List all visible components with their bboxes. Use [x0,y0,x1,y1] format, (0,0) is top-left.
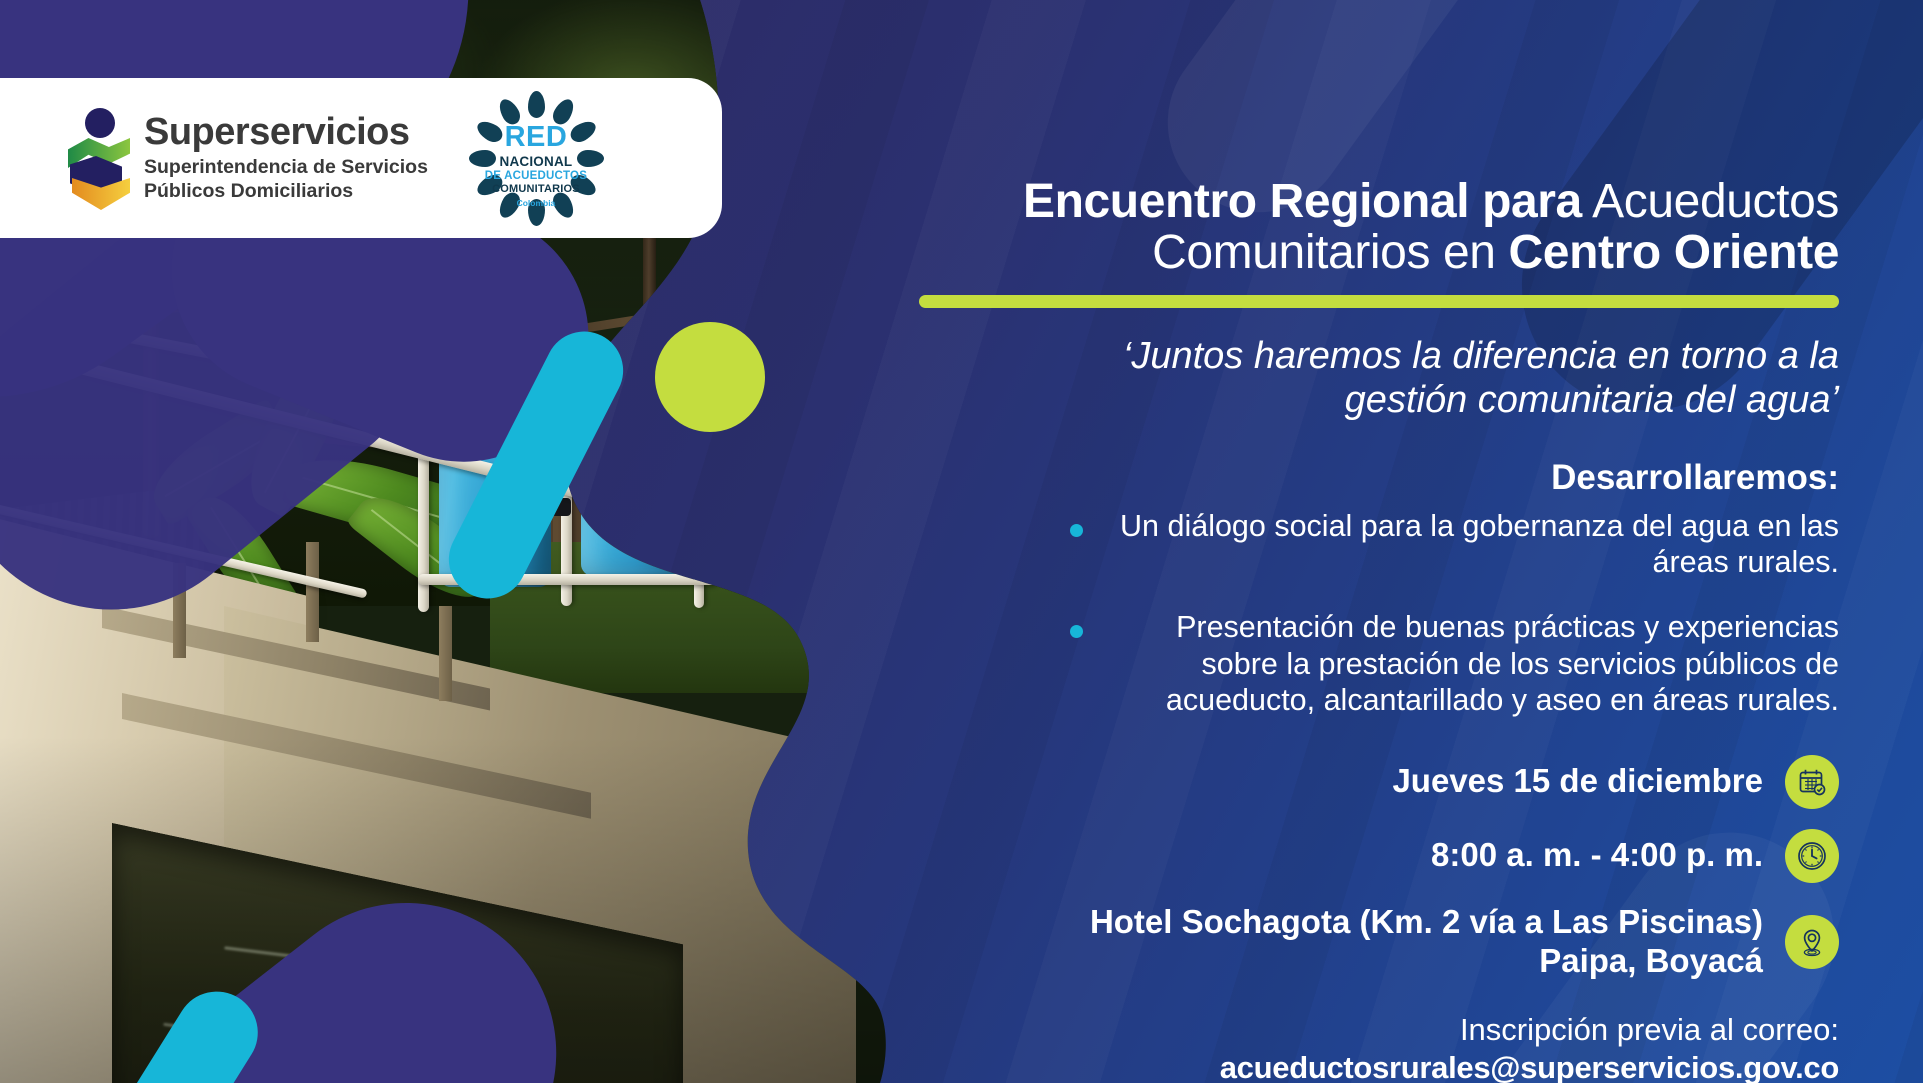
event-title-line2-bold: Centro Oriente [1509,226,1839,279]
bullet-dot-icon [1070,625,1083,638]
decorative-lime-circle [655,322,765,432]
superservicios-mark-icon [68,108,130,208]
event-location-row: Hotel Sochagota (Km. 2 vía a Las Piscina… [919,903,1839,981]
photo-water-tank [714,422,809,572]
superservicios-subtitle-line1: Superintendencia de Servicios [144,156,428,178]
event-time-row: 8:00 a. m. - 4:00 p. m. [919,829,1839,883]
event-time-text: 8:00 a. m. - 4:00 p. m. [1431,836,1763,875]
event-date-row: Jueves 15 de diciembre [919,755,1839,809]
program-heading: Desarrollaremos: [919,458,1839,498]
superservicios-subtitle-line2: Públicos Domiciliarios [144,180,353,202]
superservicios-wordmark: Superservicios Superintendencia de Servi… [144,113,428,204]
registration-info: Inscripción previa al correo: acueductos… [919,1011,1839,1083]
event-date-text: Jueves 15 de diciembre [1392,762,1763,801]
red-logo-line5: Colombia [474,199,598,208]
red-logo-line1: RED [474,123,598,152]
event-slogan-line1: ‘Juntos haremos la diferencia en torno a… [1123,335,1839,377]
program-bullet-item: Un diálogo social para la gobernanza del… [919,508,1839,581]
registration-label: Inscripción previa al correo: [1460,1012,1839,1047]
program-bullet-text: Presentación de buenas prácticas y exper… [1099,609,1839,719]
clock-icon [1785,829,1839,883]
superservicios-head-shape [85,108,115,138]
event-details: Jueves 15 de diciembre [919,755,1839,981]
location-pin-icon [1785,915,1839,969]
event-poster: Superservicios Superintendencia de Servi… [0,0,1923,1083]
logo-bar: Superservicios Superintendencia de Servi… [0,78,722,238]
photo-tree-trunk [643,217,656,467]
bullet-dot-icon [1070,524,1083,537]
superservicios-logo: Superservicios Superintendencia de Servi… [68,108,428,208]
registration-email[interactable]: acueductosrurales@superservicios.gov.co [919,1049,1839,1083]
photo-post [439,606,452,701]
superservicios-subtitle: Superintendencia de Servicios Públicos D… [144,156,428,204]
photo-post [306,542,319,642]
superservicios-title: Superservicios [144,113,428,151]
program-bullet-list: Un diálogo social para la gobernanza del… [919,508,1839,719]
poster-content: Encuentro Regional para Acueductos Comun… [919,0,1839,1083]
event-title-line1-bold: Encuentro Regional para [1023,175,1582,228]
red-logo-line4: COMUNITARIOS [474,184,598,195]
calendar-icon [1785,755,1839,809]
event-location-line2: Paipa, Boyacá [1539,942,1763,979]
event-title-line2-light: Comunitarios en [1152,226,1496,279]
program-bullet-text: Un diálogo social para la gobernanza del… [1099,508,1839,581]
title-divider [919,295,1839,308]
event-location-line1: Hotel Sochagota (Km. 2 vía a Las Piscina… [1090,903,1763,940]
photo-tank-nozzle [637,362,644,384]
red-nacional-logo: RED NACIONAL DE ACUEDUCTOS COMUNITARIOS … [474,94,598,222]
event-location-text: Hotel Sochagota (Km. 2 vía a Las Piscina… [1090,903,1763,981]
event-title-line1-light: Acueductos [1592,175,1839,228]
red-logo-line3: DE ACUEDUCTOS [474,171,598,183]
red-logo-line2: NACIONAL [474,155,598,169]
event-title: Encuentro Regional para Acueductos Comun… [919,176,1839,279]
event-slogan: ‘Juntos haremos la diferencia en torno a… [919,334,1839,422]
program-bullet-item: Presentación de buenas prácticas y exper… [919,609,1839,719]
red-logo-text: RED NACIONAL DE ACUEDUCTOS COMUNITARIOS … [474,123,598,208]
event-slogan-line2: gestión comunitaria del agua’ [1345,379,1839,421]
